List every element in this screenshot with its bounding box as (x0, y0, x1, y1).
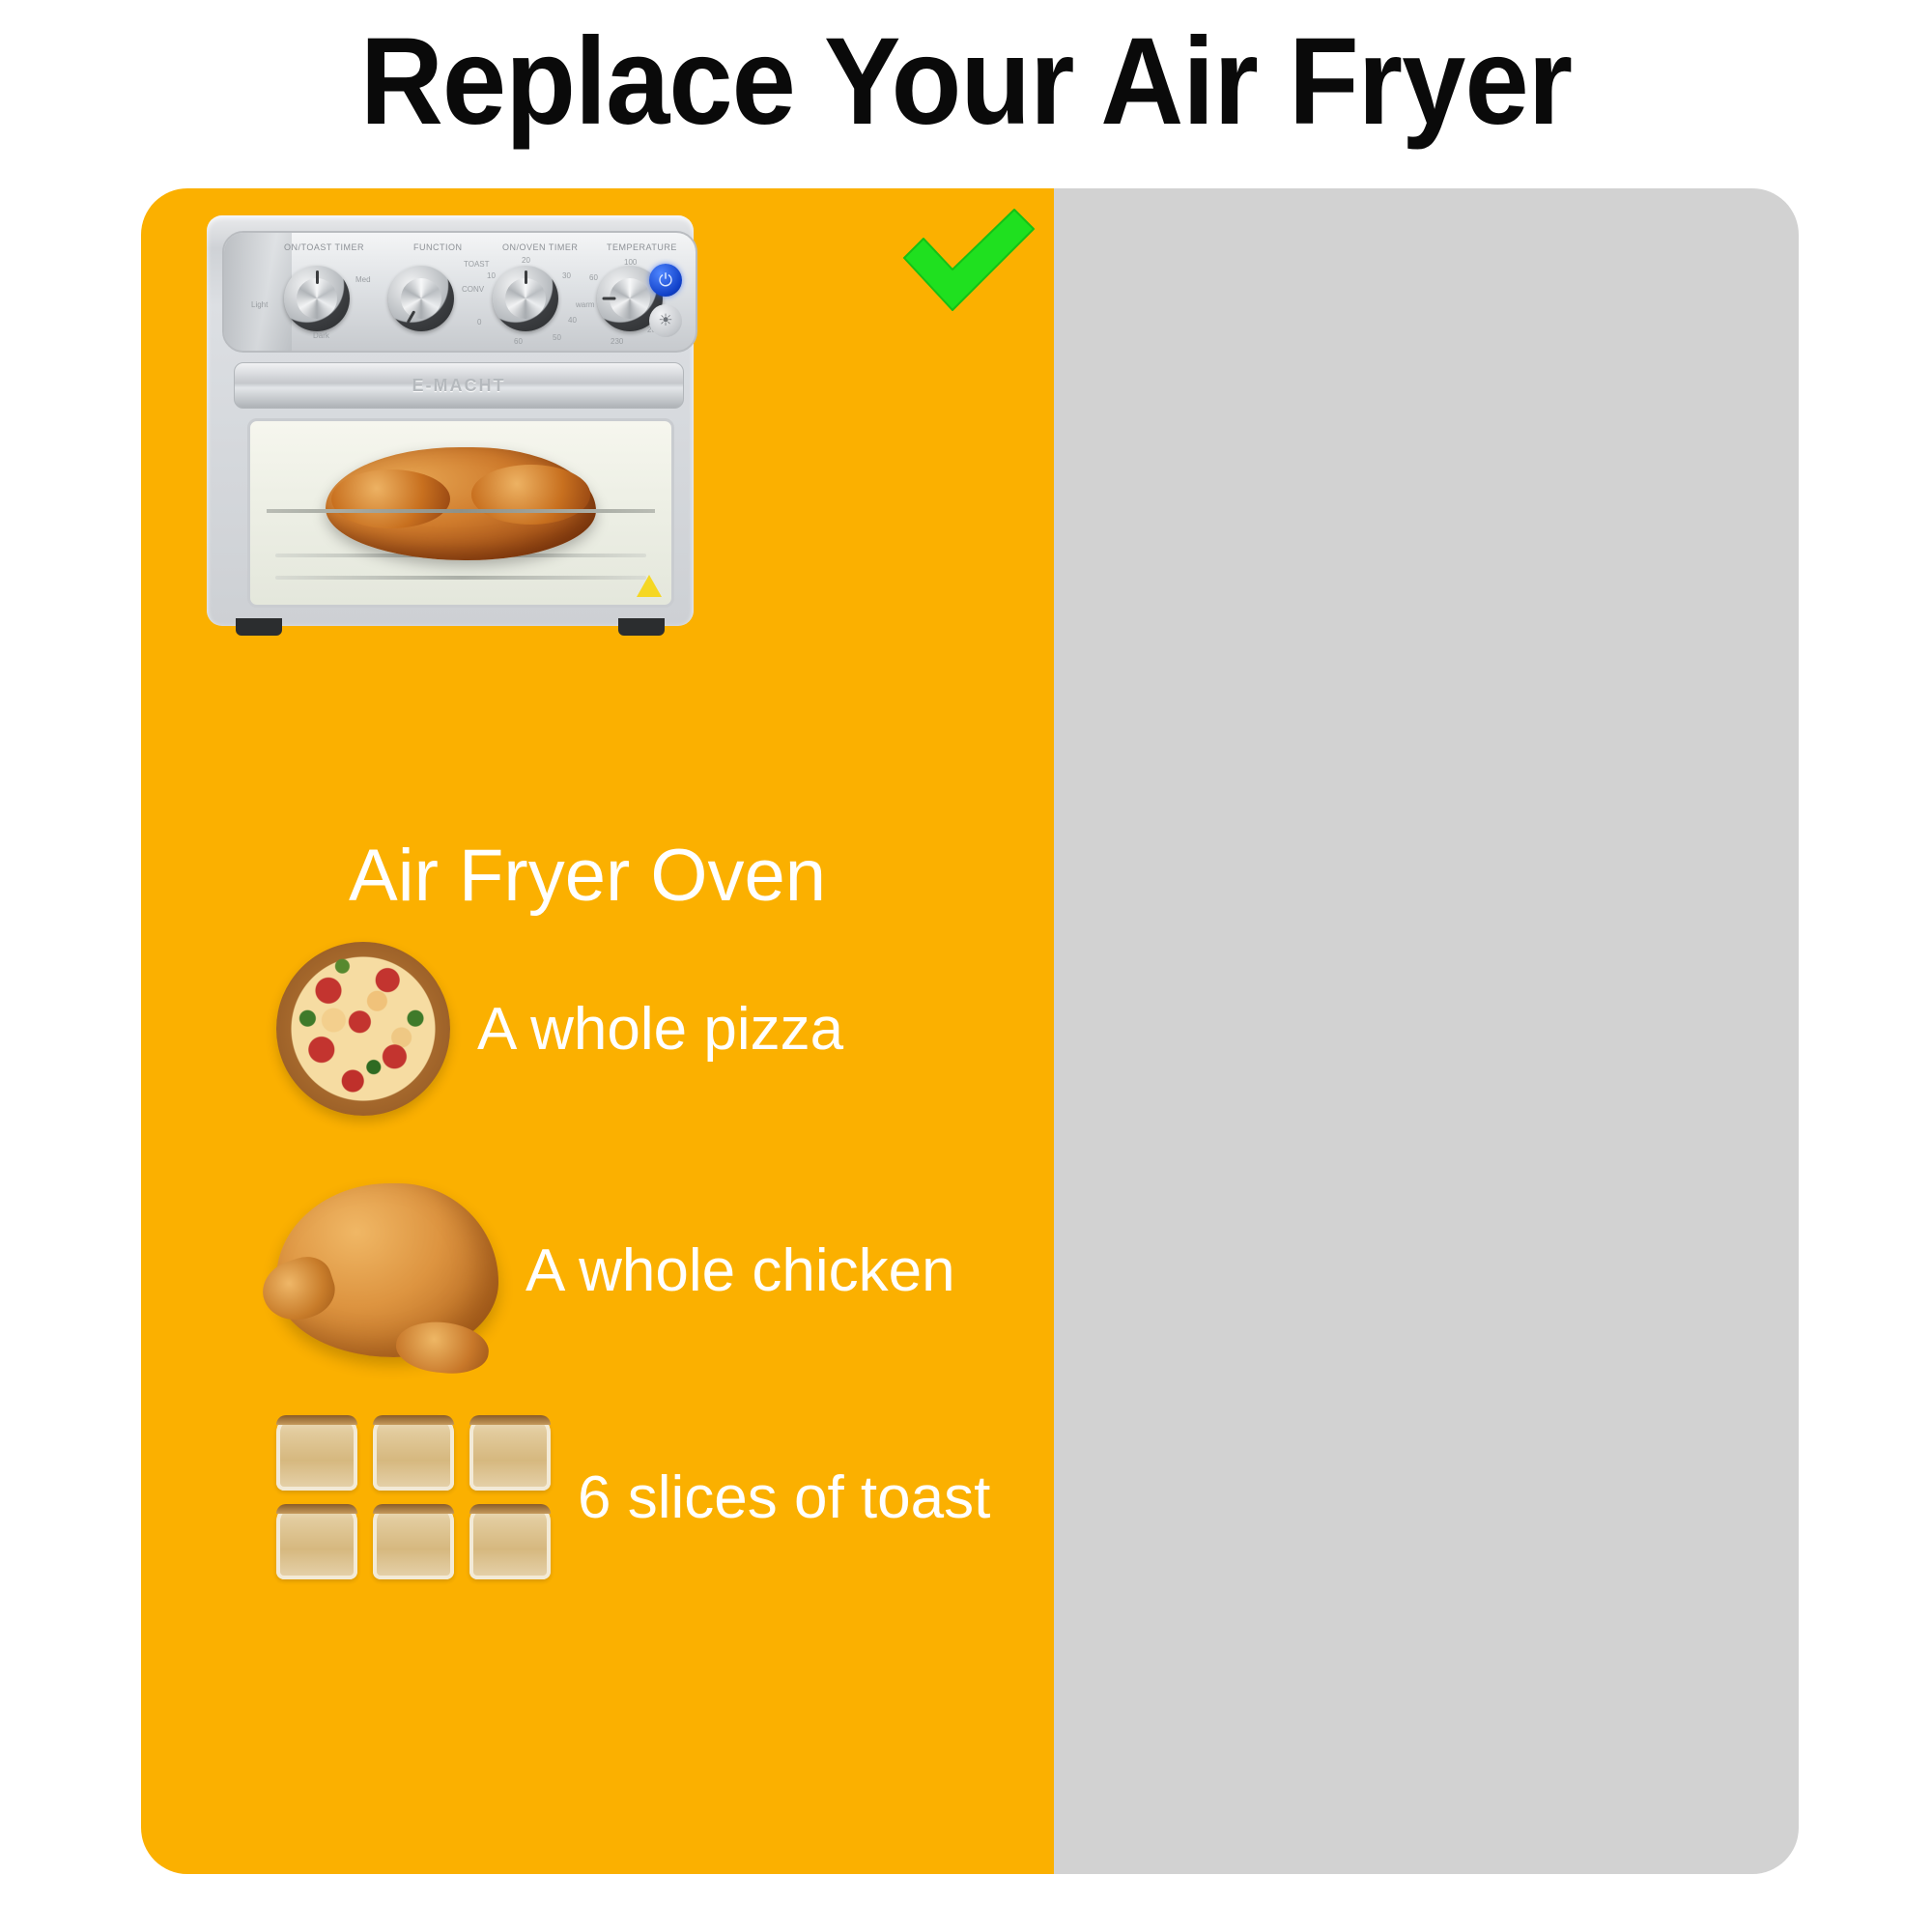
power-button[interactable] (649, 264, 682, 297)
left-panel-air-fryer-oven: ON/TOAST TIMER FUNCTION ON/OVEN TIMER TE… (141, 188, 1054, 1874)
knob-label-oven-timer: ON/OVEN TIMER (502, 242, 578, 252)
brand-logo: E-MACHT (235, 363, 683, 408)
mark-timer-40: 40 (568, 316, 577, 325)
toast-slice (469, 1504, 551, 1579)
mark-timer-20: 20 (522, 256, 530, 265)
left-product-name: Air Fryer Oven (349, 834, 826, 918)
oven-foot-right (618, 618, 665, 636)
toast-slice (373, 1504, 454, 1579)
mark-timer-10: 10 (487, 271, 496, 280)
mark-230: 230 (611, 337, 623, 346)
roast-chicken-icon (326, 447, 595, 561)
mark-timer-0: 0 (477, 318, 481, 327)
air-fryer-oven-image: ON/TOAST TIMER FUNCTION ON/OVEN TIMER TE… (199, 208, 701, 662)
knob-label-function: FUNCTION (413, 242, 463, 252)
left-row-pizza-label: A whole pizza (477, 995, 843, 1064)
light-button[interactable] (649, 304, 682, 337)
mark-100: 100 (624, 258, 637, 267)
oven-foot-left (236, 618, 282, 636)
knob-label-temperature: TEMPERATURE (607, 242, 677, 252)
oven-door-handle[interactable]: E-MACHT (234, 362, 684, 409)
toast-slice (469, 1415, 551, 1491)
green-check-icon (887, 198, 1051, 314)
mark-timer-50: 50 (553, 333, 561, 342)
oven-control-panel: ON/TOAST TIMER FUNCTION ON/OVEN TIMER TE… (222, 231, 697, 353)
left-row-chicken: A whole chicken (276, 1183, 1010, 1357)
mark-med: Med (355, 275, 371, 284)
toast-timer-knob[interactable] (284, 266, 350, 331)
mark-light: Light (251, 300, 268, 309)
knob-label-toast-timer: ON/TOAST TIMER (284, 242, 364, 252)
whole-chicken-icon (276, 1183, 498, 1357)
whole-pizza-icon (276, 942, 450, 1116)
mark-timer-30: 30 (562, 271, 571, 280)
left-row-toast-label: 6 slices of toast (578, 1463, 990, 1532)
left-row-chicken-label: A whole chicken (526, 1236, 955, 1305)
page-title: Replace Your Air Fryer (68, 17, 1864, 147)
mark-dark: Dark (313, 331, 329, 340)
six-toast-slices-icon (276, 1415, 551, 1579)
oven-timer-knob[interactable] (493, 266, 558, 331)
toast-slice (276, 1415, 357, 1491)
toast-slice (276, 1504, 357, 1579)
mark-60: 60 (589, 273, 598, 282)
mark-conv: CONV (462, 285, 484, 294)
mark-warm: warm (576, 300, 595, 309)
function-knob[interactable] (388, 266, 454, 331)
toast-slice (373, 1415, 454, 1491)
oven-glass-window (247, 418, 674, 608)
heat-warning-icon (637, 575, 662, 597)
left-row-pizza: A whole pizza (276, 942, 1010, 1116)
mark-timer-60: 60 (514, 337, 523, 346)
mark-toast: TOAST (464, 260, 490, 269)
right-panel-air-fryer: 🌡 ▤ ⏻ Air Fryer one slice of pizza (1054, 188, 1799, 1874)
left-row-toast: 6 slices of toast (276, 1415, 1010, 1579)
comparison-panels: ON/TOAST TIMER FUNCTION ON/OVEN TIMER TE… (141, 188, 1799, 1874)
